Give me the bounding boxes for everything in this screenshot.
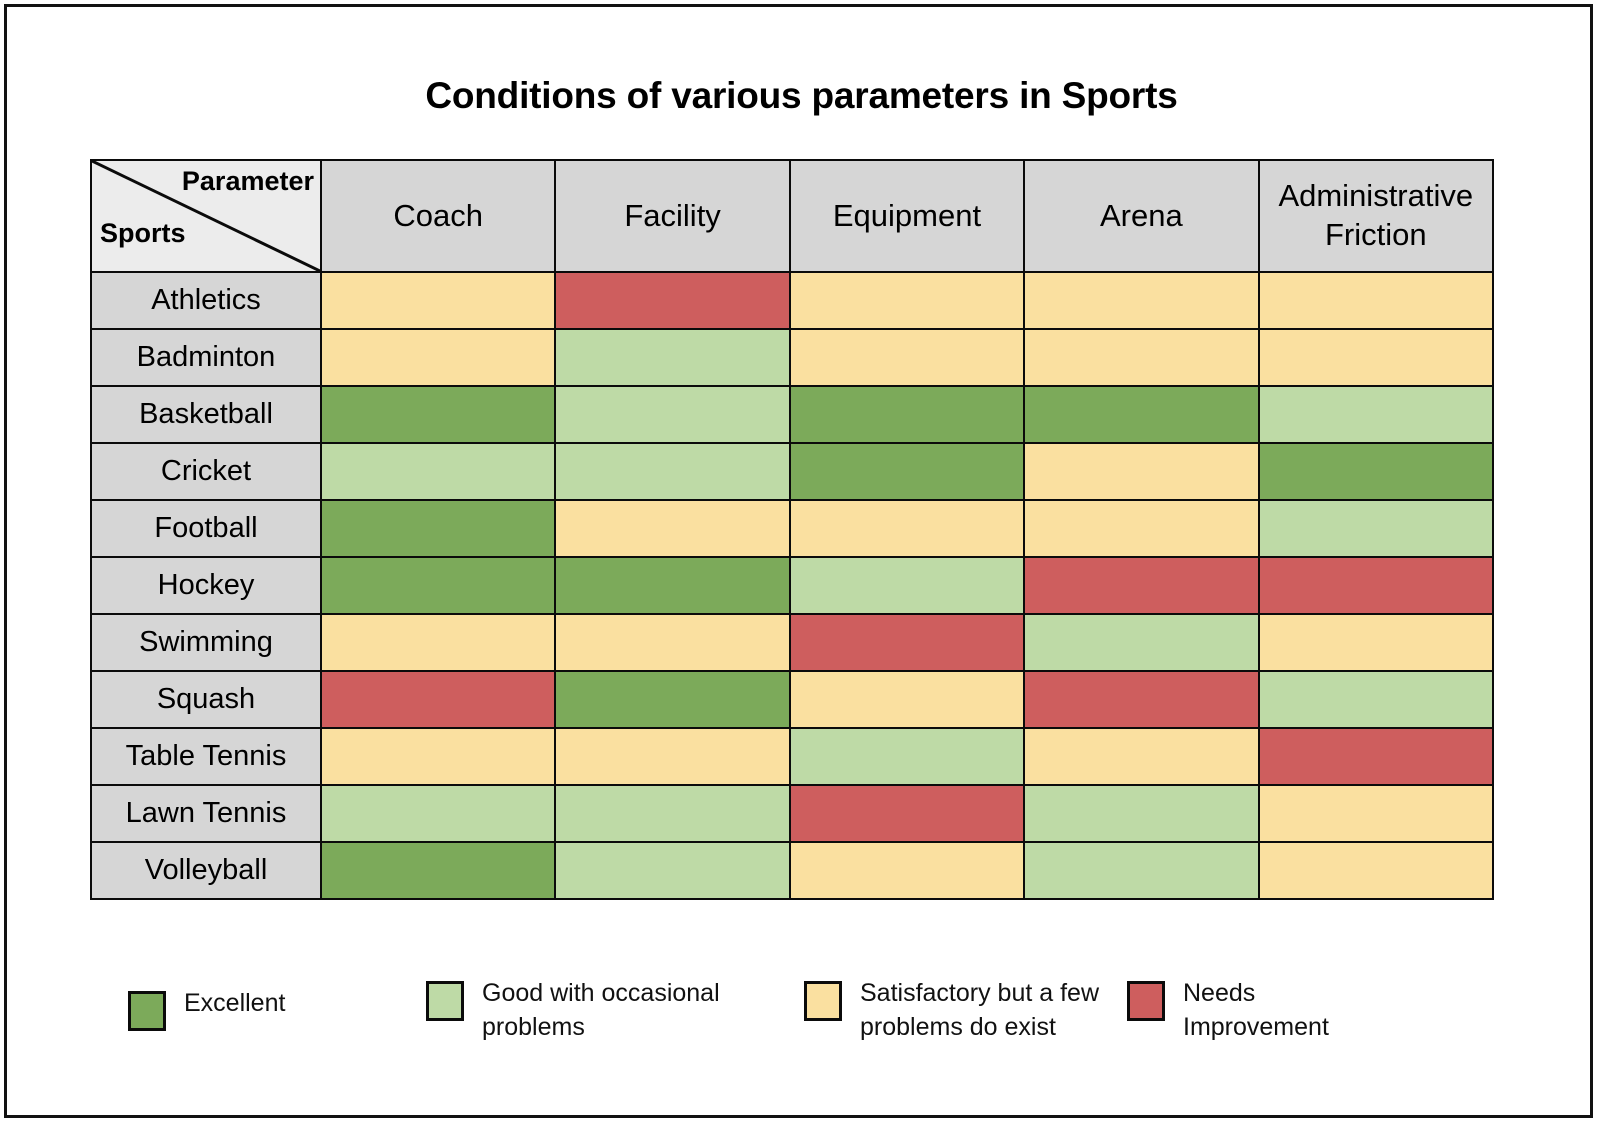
table-row: Football — [91, 500, 1493, 557]
cell-football-arena — [1024, 500, 1258, 557]
cell-basketball-arena — [1024, 386, 1258, 443]
table-row: Cricket — [91, 443, 1493, 500]
cell-volleyball-arena — [1024, 842, 1258, 899]
cell-swimming-coach — [321, 614, 555, 671]
cell-cricket-administrative-friction — [1259, 443, 1493, 500]
column-header-facility: Facility — [555, 160, 789, 272]
legend-label-needs: Needs Improvement — [1183, 977, 1329, 1045]
cell-squash-administrative-friction — [1259, 671, 1493, 728]
cell-hockey-facility — [555, 557, 789, 614]
cell-lawn-tennis-coach — [321, 785, 555, 842]
legend-swatch-good — [426, 981, 464, 1021]
column-header-administrative-friction: Administrative Friction — [1259, 160, 1493, 272]
legend-swatch-excellent — [128, 991, 166, 1031]
cell-basketball-administrative-friction — [1259, 386, 1493, 443]
cell-lawn-tennis-arena — [1024, 785, 1258, 842]
row-header-athletics: Athletics — [91, 272, 321, 329]
cell-hockey-arena — [1024, 557, 1258, 614]
cell-cricket-arena — [1024, 443, 1258, 500]
cell-basketball-facility — [555, 386, 789, 443]
cell-badminton-administrative-friction — [1259, 329, 1493, 386]
cell-badminton-facility — [555, 329, 789, 386]
legend-swatch-needs — [1127, 981, 1165, 1021]
cell-table-tennis-equipment — [790, 728, 1024, 785]
cell-athletics-arena — [1024, 272, 1258, 329]
cell-football-facility — [555, 500, 789, 557]
cell-badminton-arena — [1024, 329, 1258, 386]
cell-badminton-equipment — [790, 329, 1024, 386]
legend-item-satisfactory: Satisfactory but a few problems do exist — [804, 977, 1099, 1045]
cell-swimming-administrative-friction — [1259, 614, 1493, 671]
cell-football-administrative-friction — [1259, 500, 1493, 557]
cell-table-tennis-arena — [1024, 728, 1258, 785]
cell-football-equipment — [790, 500, 1024, 557]
cell-basketball-equipment — [790, 386, 1024, 443]
cell-swimming-equipment — [790, 614, 1024, 671]
column-header-equipment: Equipment — [790, 160, 1024, 272]
matrix-body: AthleticsBadmintonBasketballCricketFootb… — [91, 272, 1493, 899]
cell-volleyball-administrative-friction — [1259, 842, 1493, 899]
cell-athletics-facility — [555, 272, 789, 329]
cell-table-tennis-administrative-friction — [1259, 728, 1493, 785]
legend-label-satisfactory: Satisfactory but a few problems do exist — [860, 977, 1099, 1045]
cell-lawn-tennis-equipment — [790, 785, 1024, 842]
row-header-volleyball: Volleyball — [91, 842, 321, 899]
row-header-football: Football — [91, 500, 321, 557]
table-row: Lawn Tennis — [91, 785, 1493, 842]
corner-row-axis-label: Sports — [100, 219, 186, 247]
legend-swatch-satisfactory — [804, 981, 842, 1021]
column-header-arena: Arena — [1024, 160, 1258, 272]
column-header-coach: Coach — [321, 160, 555, 272]
cell-squash-facility — [555, 671, 789, 728]
legend-label-excellent: Excellent — [184, 987, 285, 1021]
legend-item-excellent: Excellent — [128, 987, 285, 1031]
table-row: Volleyball — [91, 842, 1493, 899]
table-row: Swimming — [91, 614, 1493, 671]
legend: ExcellentGood with occasional problemsSa… — [7, 959, 1596, 1069]
sports-parameters-matrix: Parameter Sports CoachFacilityEquipmentA… — [90, 159, 1494, 900]
cell-cricket-facility — [555, 443, 789, 500]
cell-volleyball-facility — [555, 842, 789, 899]
cell-badminton-coach — [321, 329, 555, 386]
cell-hockey-coach — [321, 557, 555, 614]
cell-hockey-equipment — [790, 557, 1024, 614]
cell-squash-equipment — [790, 671, 1024, 728]
legend-item-good: Good with occasional problems — [426, 977, 720, 1045]
table-row: Badminton — [91, 329, 1493, 386]
row-header-squash: Squash — [91, 671, 321, 728]
row-header-cricket: Cricket — [91, 443, 321, 500]
cell-swimming-facility — [555, 614, 789, 671]
cell-table-tennis-coach — [321, 728, 555, 785]
row-header-table-tennis: Table Tennis — [91, 728, 321, 785]
row-header-basketball: Basketball — [91, 386, 321, 443]
row-header-badminton: Badminton — [91, 329, 321, 386]
legend-item-needs: Needs Improvement — [1127, 977, 1329, 1045]
page-frame: Conditions of various parameters in Spor… — [4, 4, 1593, 1118]
cell-squash-arena — [1024, 671, 1258, 728]
table-row: Basketball — [91, 386, 1493, 443]
cell-table-tennis-facility — [555, 728, 789, 785]
cell-cricket-equipment — [790, 443, 1024, 500]
cell-lawn-tennis-facility — [555, 785, 789, 842]
cell-swimming-arena — [1024, 614, 1258, 671]
matrix-header: Parameter Sports CoachFacilityEquipmentA… — [91, 160, 1493, 272]
table-row: Hockey — [91, 557, 1493, 614]
cell-lawn-tennis-administrative-friction — [1259, 785, 1493, 842]
cell-hockey-administrative-friction — [1259, 557, 1493, 614]
corner-column-axis-label: Parameter — [182, 167, 314, 195]
cell-volleyball-coach — [321, 842, 555, 899]
cell-athletics-administrative-friction — [1259, 272, 1493, 329]
cell-volleyball-equipment — [790, 842, 1024, 899]
legend-label-good: Good with occasional problems — [482, 977, 720, 1045]
cell-cricket-coach — [321, 443, 555, 500]
row-header-swimming: Swimming — [91, 614, 321, 671]
cell-football-coach — [321, 500, 555, 557]
cell-athletics-coach — [321, 272, 555, 329]
cell-athletics-equipment — [790, 272, 1024, 329]
corner-axis-cell: Parameter Sports — [91, 160, 321, 272]
table-row: Squash — [91, 671, 1493, 728]
page-title: Conditions of various parameters in Spor… — [7, 75, 1596, 117]
table-row: Athletics — [91, 272, 1493, 329]
header-row: Parameter Sports CoachFacilityEquipmentA… — [91, 160, 1493, 272]
row-header-hockey: Hockey — [91, 557, 321, 614]
cell-basketball-coach — [321, 386, 555, 443]
table-row: Table Tennis — [91, 728, 1493, 785]
cell-squash-coach — [321, 671, 555, 728]
row-header-lawn-tennis: Lawn Tennis — [91, 785, 321, 842]
